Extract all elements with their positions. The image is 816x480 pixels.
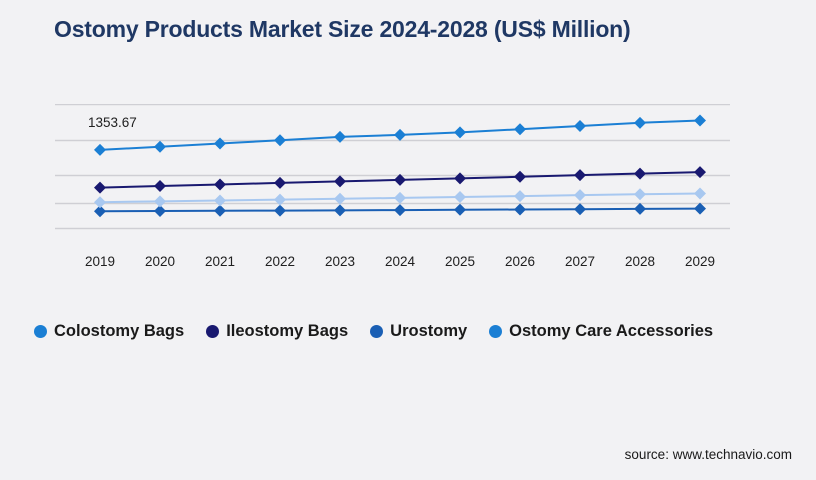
data-point-marker xyxy=(274,177,286,189)
data-point-marker xyxy=(574,120,586,132)
x-axis-tick-label: 2027 xyxy=(565,254,595,269)
legend-marker-icon xyxy=(489,325,502,338)
data-point-marker xyxy=(634,188,646,200)
data-point-marker xyxy=(454,126,466,138)
data-point-marker xyxy=(514,204,526,216)
data-point-marker xyxy=(574,203,586,215)
x-axis-tick-label: 2026 xyxy=(505,254,535,269)
data-point-marker xyxy=(394,204,406,216)
data-point-marker xyxy=(394,129,406,141)
data-point-marker xyxy=(574,189,586,201)
x-axis-tick-label: 2020 xyxy=(145,254,175,269)
x-axis-tick-label: 2021 xyxy=(205,254,235,269)
chart-legend: Colostomy BagsIleostomy BagsUrostomyOsto… xyxy=(34,322,735,341)
legend-label: Ileostomy Bags xyxy=(226,322,348,341)
x-axis-tick-label: 2023 xyxy=(325,254,355,269)
x-axis-tick-label: 2022 xyxy=(265,254,295,269)
legend-item[interactable]: Ileostomy Bags xyxy=(206,322,348,341)
x-axis-tick-label: 2024 xyxy=(385,254,415,269)
x-axis-tick-label: 2025 xyxy=(445,254,475,269)
data-point-marker xyxy=(454,172,466,184)
data-point-marker xyxy=(694,187,706,199)
data-point-marker xyxy=(514,190,526,202)
data-point-marker xyxy=(694,114,706,126)
data-point-marker xyxy=(274,134,286,146)
data-point-marker xyxy=(694,166,706,178)
data-point-marker xyxy=(94,144,106,156)
legend-item[interactable]: Colostomy Bags xyxy=(34,322,184,341)
data-point-marker xyxy=(454,204,466,216)
x-axis: 2019202020212022202320242025202620272028… xyxy=(55,254,730,274)
chart-title: Ostomy Products Market Size 2024-2028 (U… xyxy=(54,16,631,43)
data-point-marker xyxy=(334,204,346,216)
plot-area xyxy=(55,104,730,246)
data-point-marker xyxy=(394,192,406,204)
data-point-marker xyxy=(694,203,706,215)
x-axis-tick-label: 2029 xyxy=(685,254,715,269)
data-point-marker xyxy=(214,205,226,217)
data-point-marker xyxy=(274,205,286,217)
data-point-marker xyxy=(214,194,226,206)
line-chart-svg xyxy=(55,104,730,246)
data-point-marker xyxy=(94,182,106,194)
data-point-marker xyxy=(454,191,466,203)
data-point-marker xyxy=(634,117,646,129)
data-point-marker xyxy=(634,168,646,180)
data-point-marker xyxy=(214,138,226,150)
legend-marker-icon xyxy=(370,325,383,338)
data-point-marker xyxy=(154,195,166,207)
legend-marker-icon xyxy=(34,325,47,338)
data-point-marker xyxy=(214,179,226,191)
data-point-marker xyxy=(634,203,646,215)
data-point-marker xyxy=(94,196,106,208)
legend-label: Urostomy xyxy=(390,322,467,341)
data-point-marker xyxy=(154,141,166,153)
source-attribution: source: www.technavio.com xyxy=(625,447,792,462)
x-axis-tick-label: 2019 xyxy=(85,254,115,269)
data-point-marker xyxy=(514,171,526,183)
data-point-marker xyxy=(514,123,526,135)
legend-item[interactable]: Ostomy Care Accessories xyxy=(489,322,713,341)
chart-container: Ostomy Products Market Size 2024-2028 (U… xyxy=(0,0,816,480)
legend-marker-icon xyxy=(206,325,219,338)
data-point-marker xyxy=(154,180,166,192)
data-point-marker xyxy=(574,169,586,181)
x-axis-tick-label: 2028 xyxy=(625,254,655,269)
legend-item[interactable]: Urostomy xyxy=(370,322,467,341)
legend-label: Ostomy Care Accessories xyxy=(509,322,713,341)
data-point-label: 1353.67 xyxy=(88,115,137,130)
legend-label: Colostomy Bags xyxy=(54,322,184,341)
data-point-marker xyxy=(334,175,346,187)
